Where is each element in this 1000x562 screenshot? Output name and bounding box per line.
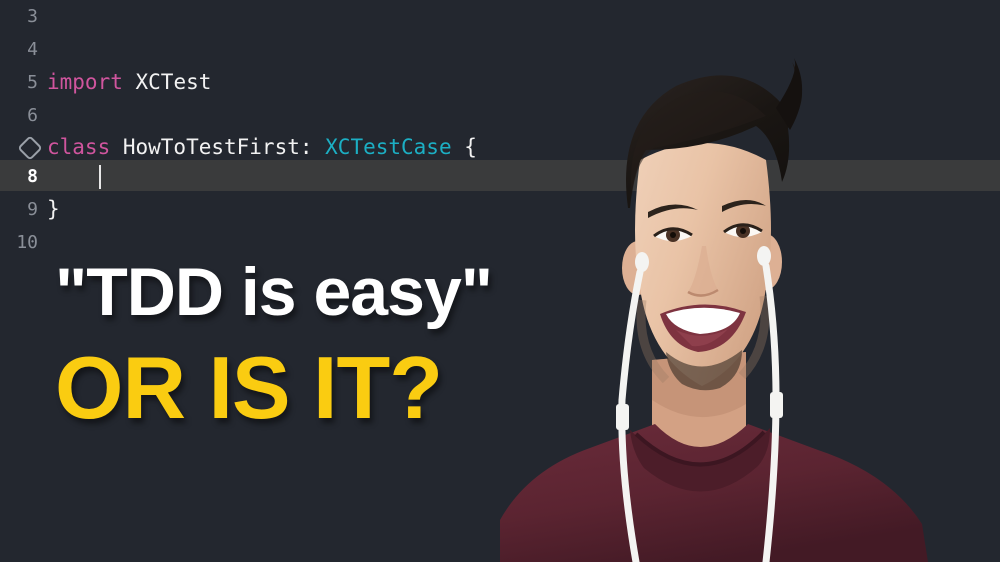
- code-text: }: [47, 199, 60, 220]
- portrait-illustration: [470, 0, 1000, 562]
- line-number: 6: [0, 107, 47, 125]
- headline-line-2: OR IS IT?: [55, 344, 492, 432]
- line-number: 5: [0, 74, 47, 92]
- line-number: 4: [0, 41, 47, 59]
- video-thumbnail: 3 4 5 import XCTest 6 class HowToTestFir…: [0, 0, 1000, 562]
- headline-line-1: "TDD is easy": [55, 258, 492, 326]
- line-number: 10: [0, 234, 47, 252]
- token-keyword: import: [47, 70, 123, 94]
- earbud-right: [757, 246, 771, 266]
- token-keyword: class: [47, 135, 110, 159]
- line-number: 3: [0, 8, 47, 26]
- pupil-right: [740, 228, 746, 234]
- token-brace: }: [47, 197, 60, 221]
- line-number: 9: [0, 201, 47, 219]
- headline-block: "TDD is easy" OR IS IT?: [55, 258, 492, 432]
- text-caret: [99, 165, 101, 189]
- cable-remote: [770, 392, 783, 418]
- line-number-current: 8: [0, 168, 47, 186]
- presenter-portrait: [470, 0, 1000, 562]
- diamond-test-icon[interactable]: [17, 135, 42, 160]
- code-text: [47, 165, 101, 189]
- token-identifier: XCTest: [136, 70, 212, 94]
- token-space: [123, 70, 136, 94]
- cable-clip-left: [616, 404, 629, 430]
- earbud-left: [635, 252, 649, 272]
- token-indent: [47, 164, 98, 188]
- pupil-left: [670, 232, 676, 238]
- token-type: XCTestCase: [325, 135, 451, 159]
- code-text: class HowToTestFirst: XCTestCase {: [47, 137, 477, 158]
- code-text: import XCTest: [47, 72, 211, 93]
- token-classname: HowToTestFirst:: [110, 135, 325, 159]
